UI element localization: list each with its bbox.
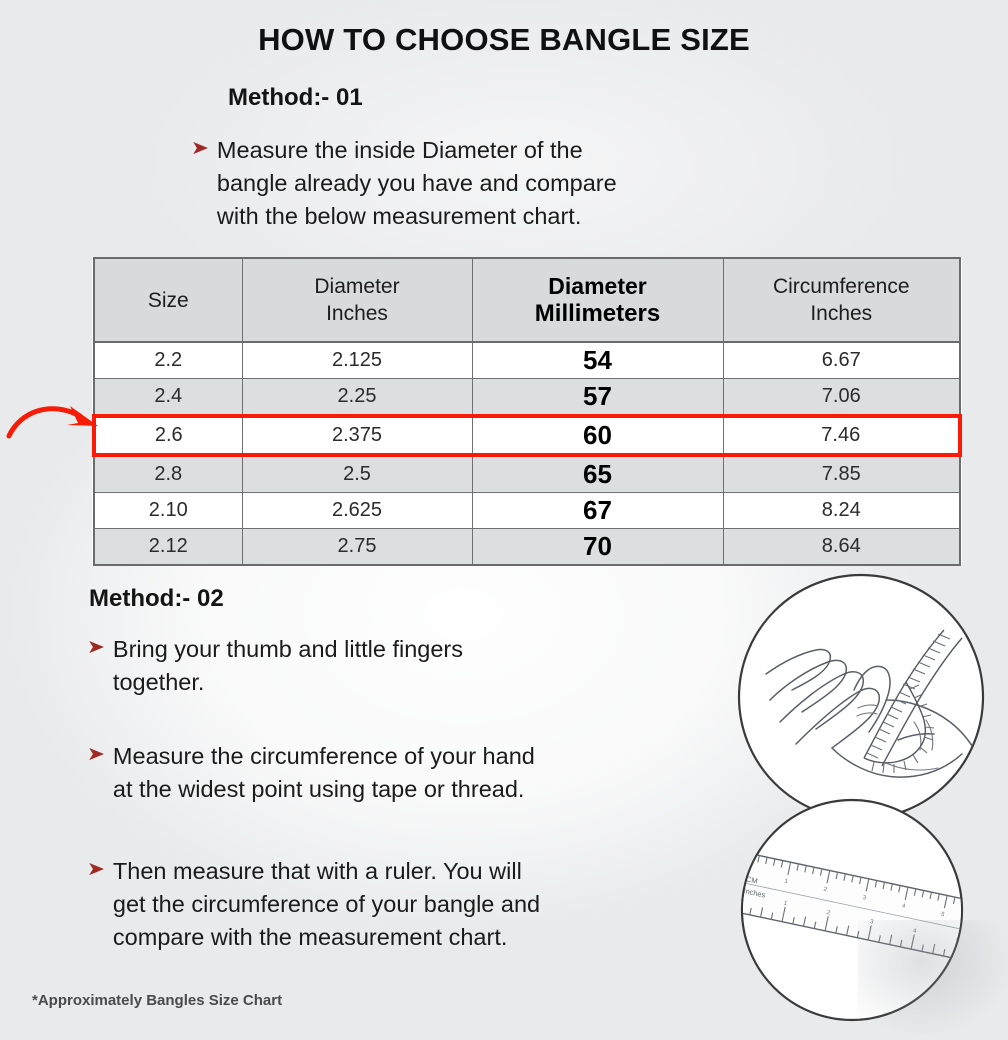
- method-02-bullet-2: ➤ Measure the circumference of your hand…: [88, 740, 728, 806]
- cell-circumference-inches: 8.24: [723, 493, 960, 529]
- cell-diameter-inches: 2.25: [242, 379, 472, 417]
- table-row[interactable]: 2.82.5657.85: [94, 455, 960, 493]
- column-header-diameter-inches: Diameter Inches: [242, 258, 472, 342]
- ruler-illustration: 012 345 CM 012 345: [740, 798, 964, 1022]
- cell-size: 2.10: [94, 493, 242, 529]
- column-header-diameter-inches-line2: Inches: [244, 300, 471, 327]
- table-row[interactable]: 2.42.25577.06: [94, 379, 960, 417]
- table-header-row: Size Diameter Inches Diameter Millimeter…: [94, 258, 960, 342]
- cell-size: 2.6: [94, 416, 242, 455]
- cell-size: 2.8: [94, 455, 242, 493]
- method-01-bullet: ➤ Measure the inside Diameter of the ban…: [192, 134, 792, 233]
- bangle-size-chart-table: Size Diameter Inches Diameter Millimeter…: [92, 257, 962, 566]
- page-title: HOW TO CHOOSE BANGLE SIZE: [0, 22, 1008, 58]
- bangle-size-guide-page: HOW TO CHOOSE BANGLE SIZE Method:- 01 ➤ …: [0, 0, 1008, 1024]
- arrow-bullet-icon: ➤: [87, 638, 105, 657]
- column-header-diameter-millimeters: Diameter Millimeters: [472, 258, 723, 342]
- table-header: Size Diameter Inches Diameter Millimeter…: [94, 258, 960, 342]
- arrow-bullet-icon: ➤: [87, 860, 105, 879]
- cell-diameter-inches: 2.5: [242, 455, 472, 493]
- cell-diameter-millimeters: 60: [472, 416, 723, 455]
- cell-circumference-inches: 7.85: [723, 455, 960, 493]
- method-02-heading: Method:- 02: [89, 585, 224, 613]
- column-header-circumference-line2: Inches: [725, 300, 959, 327]
- method-02-bullet-2-text: Measure the circumference of your hand a…: [113, 740, 535, 806]
- size-chart-container: Size Diameter Inches Diameter Millimeter…: [92, 257, 958, 566]
- method-02-bullet-3: ➤ Then measure that with a ruler. You wi…: [88, 855, 728, 954]
- table-row[interactable]: 2.22.125546.67: [94, 342, 960, 379]
- cell-circumference-inches: 7.46: [723, 416, 960, 455]
- arrow-bullet-icon: ➤: [87, 745, 105, 764]
- cell-size: 2.12: [94, 529, 242, 566]
- cell-size: 2.2: [94, 342, 242, 379]
- method-02-bullet-1: ➤ Bring your thumb and little fingers to…: [88, 633, 708, 699]
- column-header-diameter-inches-line1: Diameter: [244, 273, 471, 300]
- table-body: 2.22.125546.672.42.25577.062.62.375607.4…: [94, 342, 960, 565]
- method-01-heading: Method:- 01: [228, 84, 363, 112]
- table-row[interactable]: 2.122.75708.64: [94, 529, 960, 566]
- cell-diameter-millimeters: 54: [472, 342, 723, 379]
- column-header-circumference-inches: Circumference Inches: [723, 258, 960, 342]
- method-02-bullet-1-text: Bring your thumb and little fingers toge…: [113, 633, 463, 699]
- column-header-diameter-mm-line1: Diameter: [474, 273, 722, 300]
- cell-circumference-inches: 8.64: [723, 529, 960, 566]
- column-header-diameter-mm-line2: Millimeters: [474, 300, 722, 327]
- cell-diameter-inches: 2.125: [242, 342, 472, 379]
- cell-diameter-inches: 2.75: [242, 529, 472, 566]
- footnote-text: *Approximately Bangles Size Chart: [32, 992, 282, 1009]
- method-02-bullet-3-text: Then measure that with a ruler. You will…: [113, 855, 540, 954]
- table-row[interactable]: 2.102.625678.24: [94, 493, 960, 529]
- cell-diameter-inches: 2.375: [242, 416, 472, 455]
- column-header-size: Size: [94, 258, 242, 342]
- cell-diameter-millimeters: 57: [472, 379, 723, 417]
- red-pointer-arrow-icon: [4, 392, 108, 444]
- method-01-bullet-text: Measure the inside Diameter of the bangl…: [217, 134, 617, 233]
- cell-diameter-millimeters: 70: [472, 529, 723, 566]
- table-row[interactable]: 2.62.375607.46: [94, 416, 960, 455]
- column-header-size-line1: Size: [96, 287, 241, 314]
- cell-circumference-inches: 6.67: [723, 342, 960, 379]
- cell-diameter-millimeters: 65: [472, 455, 723, 493]
- cell-diameter-inches: 2.625: [242, 493, 472, 529]
- cell-diameter-millimeters: 67: [472, 493, 723, 529]
- cell-circumference-inches: 7.06: [723, 379, 960, 417]
- column-header-circumference-line1: Circumference: [725, 273, 959, 300]
- hand-with-measuring-tape-illustration: [736, 572, 986, 822]
- arrow-bullet-icon: ➤: [191, 139, 209, 158]
- cell-size: 2.4: [94, 379, 242, 417]
